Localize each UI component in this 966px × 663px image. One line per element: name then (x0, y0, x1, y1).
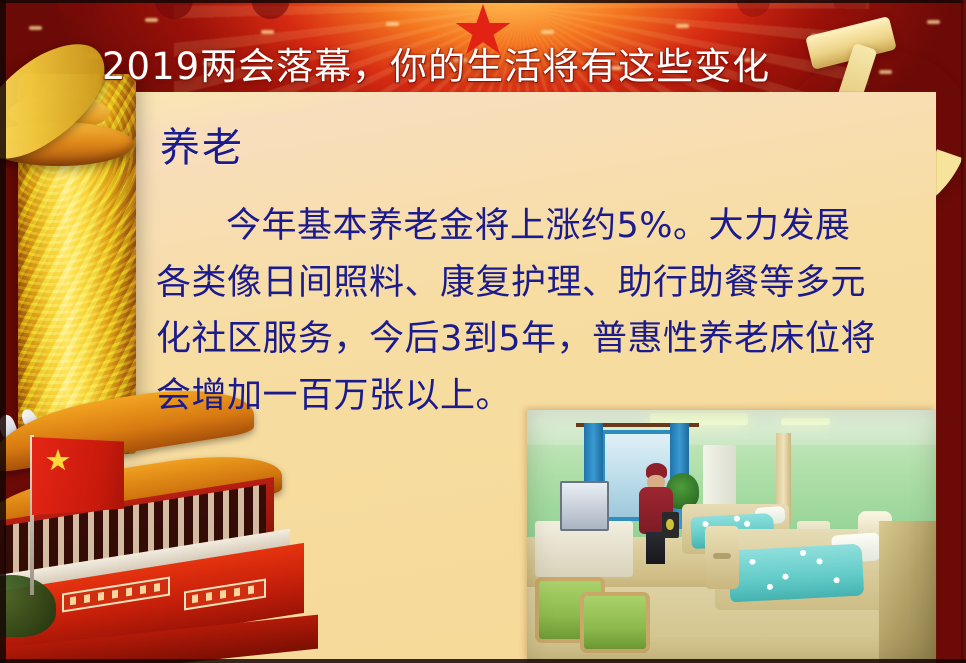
page-title: 2019两会落幕，你的生活将有这些变化 (102, 48, 770, 85)
paragraph-line: 各类像日间照料、康复护理、助行助餐等多元 (156, 255, 916, 312)
section-heading: 养老 (160, 126, 244, 170)
photo-footboard (705, 526, 739, 589)
title-banner: 2019两会落幕，你的生活将有这些变化 (92, 40, 792, 92)
photo-elderly-person (637, 463, 674, 564)
china-flag-icon (32, 437, 124, 515)
nursing-home-photo (527, 410, 936, 663)
photo-monitor (560, 481, 609, 532)
frame-edge-left (0, 0, 6, 663)
frame-edge-bottom (0, 659, 966, 663)
paragraph-line: 化社区服务，今后3到5年，普惠性养老床位将 (156, 311, 916, 368)
photo-quilt (728, 543, 864, 602)
slide-canvas: 2019两会落幕，你的生活将有这些变化 养老 今年基本养老金将上涨约5%。大力发… (0, 0, 966, 663)
body-paragraph: 今年基本养老金将上涨约5%。大力发展 各类像日间照料、康复护理、助行助餐等多元 … (156, 198, 916, 425)
photo-wooden-rail (879, 521, 936, 663)
photo-armchair (580, 592, 650, 653)
frame-edge-right (961, 0, 966, 663)
paragraph-line: 今年基本养老金将上涨约5%。大力发展 (156, 198, 916, 255)
frame-edge-top (0, 0, 966, 3)
photo-person-bag (662, 512, 679, 538)
photo-bed (715, 529, 887, 610)
photo-ceiling-light (781, 418, 830, 426)
